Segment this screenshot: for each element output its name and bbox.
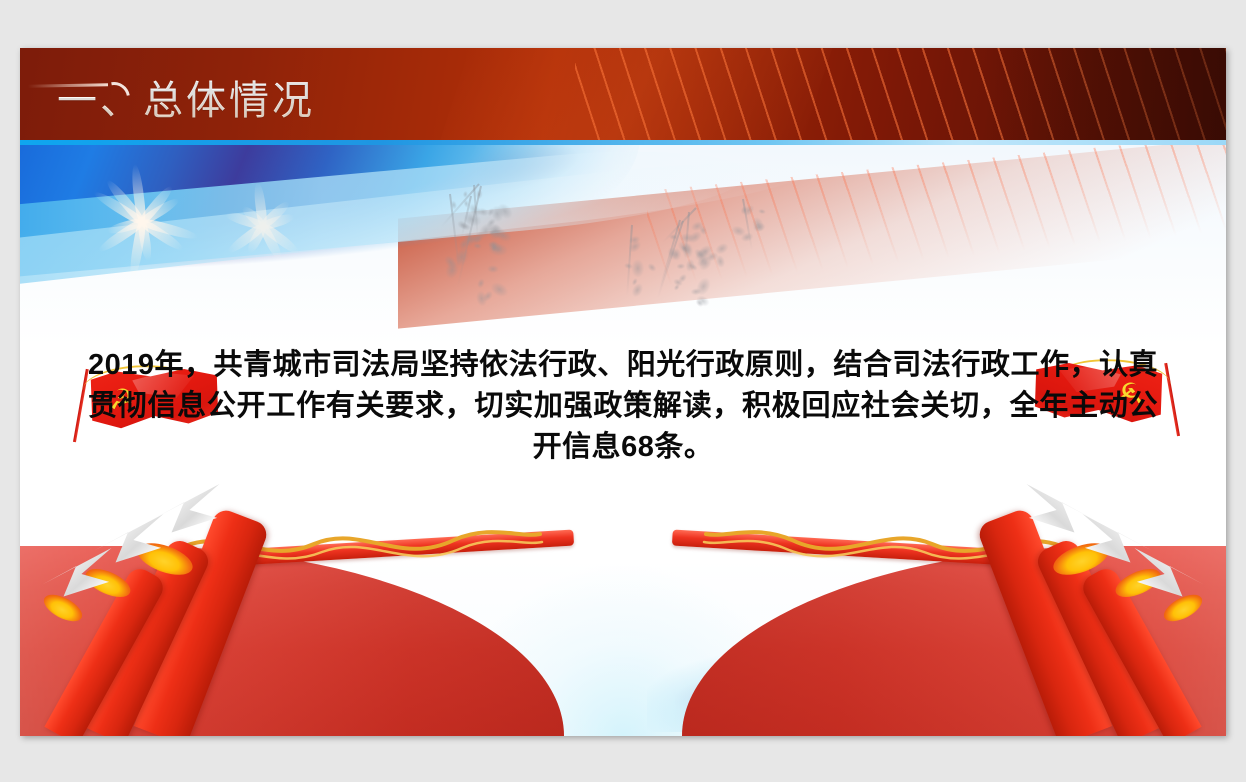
ghost-leaf [487,265,499,274]
ghost-leaf [680,232,695,242]
ghost-leaf [631,259,644,279]
slide-body: ☭ ☭ 2019年，共青城市司法局坚持依法行政、阳光行政原则，结合司法行政工作，… [20,145,1226,736]
header-right-shadow [985,48,1226,140]
red-curtain-left [20,486,624,736]
ghost-leaf [646,262,658,274]
spear-tip-icon [1132,542,1211,621]
ghost-branch [626,224,633,295]
ghost-leaf [476,277,486,289]
ghost-leaf [472,242,482,250]
body-paragraph: 2019年，共青城市司法局坚持依法行政、阳光行政原则，结合司法行政工作，认真贯彻… [88,345,1158,468]
ghost-leaf [758,209,767,216]
ghost-foliage-right [600,195,820,335]
ghost-leaf [676,263,686,270]
spear-tip-icon [36,542,115,621]
ghost-leaf [475,189,483,200]
body-text-block: 2019年，共青城市司法局坚持依法行政、阳光行政原则，结合司法行政工作，认真贯彻… [88,345,1158,468]
ghost-leaf [487,242,508,258]
red-curtain-right [622,486,1226,736]
page-title: 一、总体情况 [57,68,315,126]
slide-header-band: 一、总体情况 [20,48,1226,140]
presentation-slide: 一、总体情况 ☭ ☭ [20,48,1226,736]
ghost-leaf [672,248,682,262]
ghost-leaf [750,215,767,234]
flag-pole [1164,363,1180,436]
